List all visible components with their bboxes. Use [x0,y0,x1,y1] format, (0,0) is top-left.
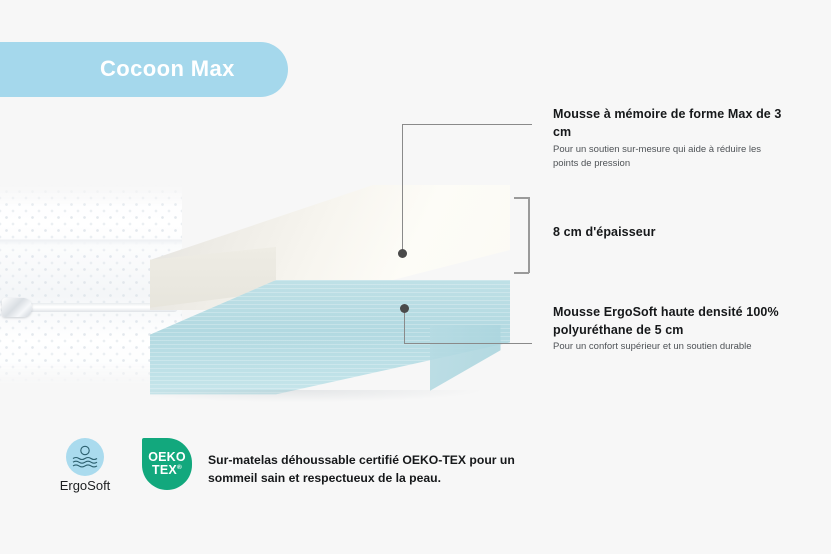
bottom-callout-leader-vertical [404,308,405,344]
ergosoft-label: ErgoSoft [51,478,119,493]
thickness-label: 8 cm d'épaisseur [553,225,656,239]
zipper-pull-icon [2,298,32,317]
thickness-bracket [528,197,530,273]
top-callout-leader-vertical [402,124,403,254]
ergosoft-callout-title: Mousse ErgoSoft haute densité 100% polyu… [553,304,803,340]
registered-mark: ® [177,464,182,471]
mattress-illustration [0,185,510,410]
top-callout-anchor-dot [398,249,407,258]
ergosoft-callout-description: Pour un confort supérieur et un soutien … [553,340,753,354]
memory-foam-callout-title: Mousse à mémoire de forme Max de 3 cm [553,106,803,142]
top-callout-leader-horizontal [402,124,532,125]
oeko-tex-badge: OEKO TEX® [142,438,192,490]
ergosoft-badge [66,438,104,476]
bottom-callout-anchor-dot [400,304,409,313]
product-infographic: Cocoon Max Mousse à mémoire de forme Max… [0,0,831,554]
thickness-bracket-top-arm [514,197,529,199]
certification-text: Sur-matelas déhoussable certifié OEKO-TE… [208,452,538,487]
ergosoft-foam-side-face [430,325,512,395]
oeko-tex-line2: TEX® [152,464,182,477]
thickness-bracket-bottom-arm [514,272,529,274]
water-waves-icon [66,438,104,476]
page-title: Cocoon Max [100,56,235,82]
mattress-shadow [150,390,480,402]
memory-foam-callout-description: Pour un soutien sur-mesure qui aide à ré… [553,143,768,172]
bottom-callout-leader-horizontal [404,343,532,344]
